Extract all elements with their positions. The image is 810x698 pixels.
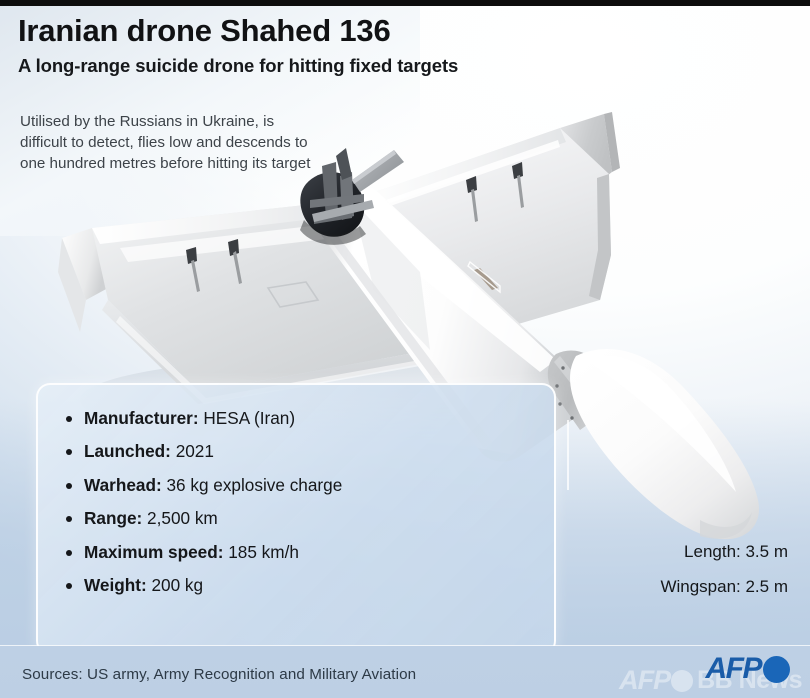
page-subtitle: A long-range suicide drone for hitting f… [18,55,618,76]
spec-label: Warhead: [84,475,162,495]
spec-label: Weight: [84,575,147,595]
specifications-list: Manufacturer: HESA (Iran) Launched: 2021… [64,409,534,595]
spec-value: 185 km/h [228,542,299,562]
afp-logo: AFP [706,654,791,684]
dimension-callouts: Length: 3.5 m Wingspan: 2.5 m [660,543,788,595]
page-title: Iranian drone Shahed 136 [18,14,618,49]
spec-label: Manufacturer: [84,408,199,428]
spec-item-warhead: Warhead: 36 kg explosive charge [64,476,534,495]
bullet-icon [66,516,72,522]
dimension-length: Length: 3.5 m [660,543,788,560]
spec-item-range: Range: 2,500 km [64,509,534,528]
afp-logo-dot-icon [763,656,790,683]
spec-item-manufacturer: Manufacturer: HESA (Iran) [64,409,534,428]
intro-paragraph: Utilised by the Russians in Ukraine, is … [20,112,320,175]
infographic-root: Iranian drone Shahed 136 A long-range su… [0,0,810,698]
spec-item-launched: Launched: 2021 [64,442,534,461]
dimension-wingspan: Wingspan: 2.5 m [660,578,788,595]
spec-value: 200 kg [151,575,203,595]
bullet-icon [66,416,72,422]
bullet-icon [66,483,72,489]
spec-value: 2,500 km [147,508,218,528]
afp-logo-text: AFP [706,654,762,684]
spec-label: Range: [84,508,142,528]
spec-item-weight: Weight: 200 kg [64,576,534,595]
spec-label: Maximum speed: [84,542,223,562]
sources-text: Sources: US army, Army Recognition and M… [22,666,416,683]
header-block: Iranian drone Shahed 136 A long-range su… [18,14,618,76]
spec-item-maximum-speed: Maximum speed: 185 km/h [64,543,534,562]
specifications-panel: Manufacturer: HESA (Iran) Launched: 2021… [36,383,556,655]
footer-divider [0,645,810,646]
spec-value: 36 kg explosive charge [166,475,342,495]
spec-label: Launched: [84,441,171,461]
bullet-icon [66,583,72,589]
spec-value: 2021 [176,441,214,461]
spec-value: HESA (Iran) [203,408,295,428]
bullet-icon [66,550,72,556]
bullet-icon [66,449,72,455]
top-black-bar [0,0,810,6]
